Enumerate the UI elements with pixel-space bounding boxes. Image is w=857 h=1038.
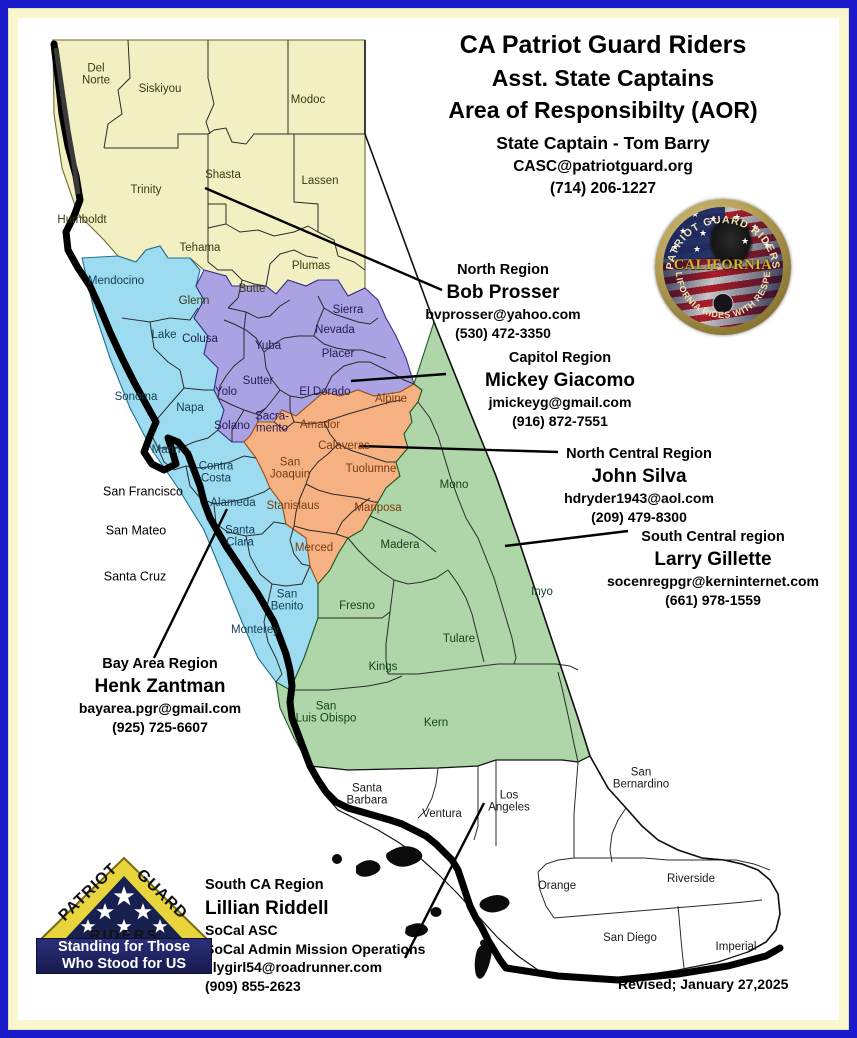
callout-north-central-region: North Central Region John Silva hdryder1… bbox=[523, 445, 755, 526]
north-central-region-phone[interactable]: (209) 479-8300 bbox=[523, 508, 755, 526]
north-central-region-label: North Central Region bbox=[523, 445, 755, 464]
north-region-name: Bob Prosser bbox=[408, 280, 598, 305]
state-captain-phone[interactable]: (714) 206-1227 bbox=[393, 180, 813, 198]
bay-area-region-email[interactable]: bayarea.pgr@gmail.com bbox=[60, 699, 260, 717]
poster-title-line1: CA Patriot Guard Riders bbox=[393, 32, 813, 58]
south-ca-region-label: South CA Region bbox=[205, 876, 505, 895]
south-ca-region-name: Lillian Riddell bbox=[205, 896, 505, 921]
north-region-label: North Region bbox=[408, 261, 598, 280]
pgr-logo: PATRIOT GUARD RIDERS Standing for Those … bbox=[36, 856, 212, 974]
title-block: CA Patriot Guard Riders Asst. State Capt… bbox=[393, 32, 813, 198]
north-region-email[interactable]: bvprosser@yahoo.com bbox=[408, 305, 598, 323]
capitol-region-label: Capitol Region bbox=[454, 349, 666, 368]
south-central-region-name: Larry Gillette bbox=[590, 547, 836, 572]
callout-north-region: North Region Bob Prosser bvprosser@yahoo… bbox=[408, 261, 598, 342]
south-ca-region-phone[interactable]: (909) 855-2623 bbox=[205, 977, 505, 995]
south-central-region-label: South Central region bbox=[590, 528, 836, 547]
pgr-banner-line1: Standing for Those bbox=[37, 939, 211, 956]
north-region-phone[interactable]: (530) 472-3350 bbox=[408, 324, 598, 342]
south-central-region-email[interactable]: socenregpgr@kerninternet.com bbox=[590, 572, 836, 590]
leader-bayarea bbox=[154, 509, 227, 658]
south-central-region-phone[interactable]: (661) 978-1559 bbox=[590, 591, 836, 609]
pgr-logo-triangle: PATRIOT GUARD RIDERS bbox=[36, 856, 212, 944]
capitol-region-email[interactable]: jmickeyg@gmail.com bbox=[454, 393, 666, 411]
revised-date: Revised; January 27,2025 bbox=[618, 976, 788, 992]
state-captain-name: State Captain - Tom Barry bbox=[393, 133, 813, 154]
bay-area-region-name: Henk Zantman bbox=[60, 674, 260, 699]
state-captain-email[interactable]: CASC@patriotguard.org bbox=[393, 158, 813, 176]
callout-bay-area-region: Bay Area Region Henk Zantman bayarea.pgr… bbox=[60, 655, 260, 736]
poster-page: .cl{fill:none;stroke:#2b2b2b;stroke-widt… bbox=[0, 0, 857, 1038]
south-ca-region-email[interactable]: lilygirl54@roadrunner.com bbox=[205, 958, 505, 976]
south-ca-region-title1: SoCal ASC bbox=[205, 921, 505, 939]
callout-south-ca-region: South CA Region Lillian Riddell SoCal AS… bbox=[205, 876, 505, 995]
callout-south-central-region: South Central region Larry Gillette soce… bbox=[590, 528, 836, 609]
pgr-banner-line2: Who Stood for US bbox=[37, 956, 211, 973]
svg-text:PATRIOT GUARD RIDERS: PATRIOT GUARD RIDERS bbox=[664, 214, 782, 271]
capitol-region-name: Mickey Giacomo bbox=[454, 368, 666, 393]
capitol-region-phone[interactable]: (916) 872-7551 bbox=[454, 412, 666, 430]
poster-title-line2: Asst. State Captains bbox=[393, 66, 813, 90]
bay-area-region-phone[interactable]: (925) 725-6607 bbox=[60, 718, 260, 736]
callout-capitol-region: Capitol Region Mickey Giacomo jmickeyg@g… bbox=[454, 349, 666, 430]
bay-area-region-label: Bay Area Region bbox=[60, 655, 260, 674]
north-central-region-email[interactable]: hdryder1943@aol.com bbox=[523, 489, 755, 507]
pgr-california-seal: ★ ★ ★ ★ ★ ★ ★ ★ ★ ★ ★ CALIFORNIA bbox=[655, 199, 791, 335]
seal-arc-text: PATRIOT GUARD RIDERS CALIFORNIA RIDES WI… bbox=[655, 199, 791, 335]
south-ca-region-title2: SoCal Admin Mission Operations bbox=[205, 940, 505, 958]
north-central-region-name: John Silva bbox=[523, 464, 755, 489]
poster-canvas: .cl{fill:none;stroke:#2b2b2b;stroke-widt… bbox=[18, 18, 839, 1020]
seal-top-arc: PATRIOT GUARD RIDERS bbox=[664, 214, 782, 271]
pgr-logo-banner: Standing for Those Who Stood for US bbox=[36, 938, 212, 974]
poster-title-line3: Area of Responsibilty (AOR) bbox=[393, 98, 813, 122]
